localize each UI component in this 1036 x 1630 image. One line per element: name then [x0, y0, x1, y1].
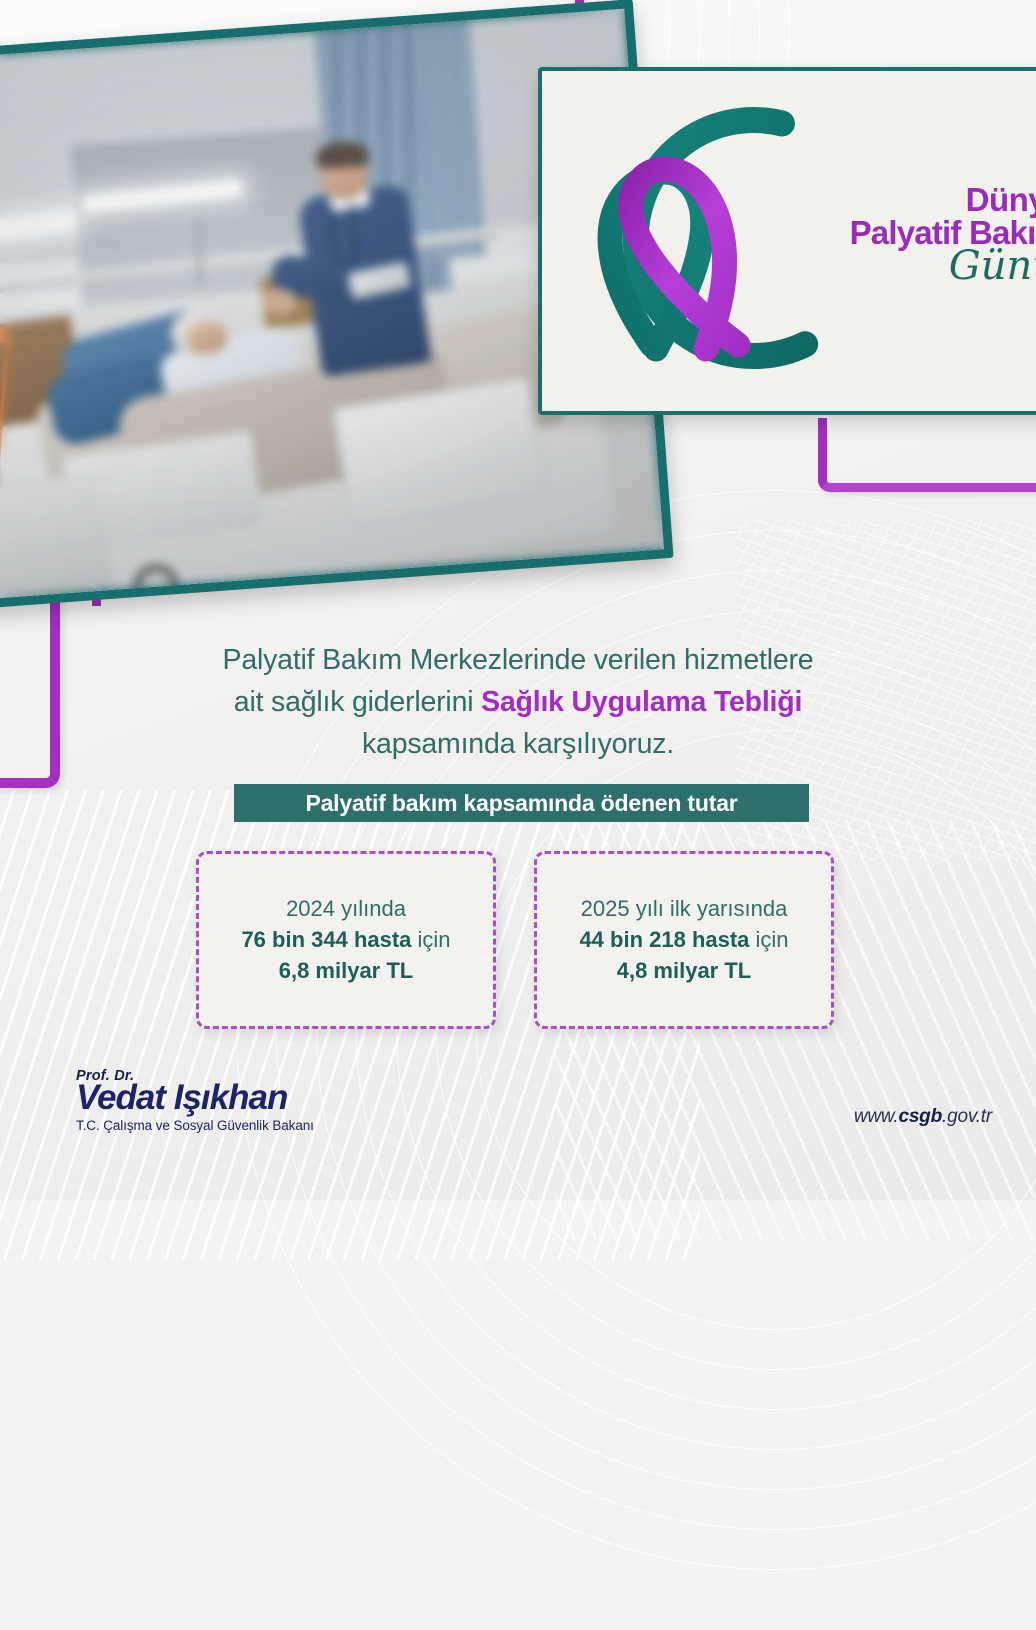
- logo-title-line3: Günü: [834, 247, 1036, 285]
- stat-card-patients-suffix: için: [411, 927, 450, 952]
- minister-signature: Prof. Dr. Vedat Işıkhan T.C. Çalışma ve …: [76, 1068, 314, 1133]
- website-url[interactable]: www.csgb.gov.tr: [854, 1106, 992, 1128]
- website-url-suffix: .gov.tr: [942, 1106, 992, 1127]
- purple-accent-frame-right: [818, 418, 1036, 492]
- stat-card: 2025 yılı ilk yarısında 44 bin 218 hasta…: [534, 851, 834, 1029]
- stat-card-year: 2024 yılında: [286, 896, 406, 922]
- main-description-line3: kapsamında karşılıyoruz.: [0, 724, 1036, 766]
- main-description: Palyatif Bakım Merkezlerinde verilen hiz…: [0, 640, 1036, 766]
- minister-name: Vedat Işıkhan: [76, 1080, 314, 1117]
- website-url-brand: csgb: [898, 1106, 942, 1127]
- stat-card-patients-suffix: için: [749, 927, 788, 952]
- website-url-prefix: www.: [854, 1106, 899, 1127]
- main-description-line2-pre: ait sağlık giderlerini: [234, 686, 481, 718]
- stat-card-patients: 44 bin 218 hasta için: [579, 927, 788, 953]
- main-description-highlight: Sağlık Uygulama Tebliği: [481, 686, 802, 718]
- stat-card-amount: 6,8 milyar TL: [279, 958, 414, 984]
- minister-role: T.C. Çalışma ve Sosyal Güvenlik Bakanı: [76, 1118, 314, 1133]
- stat-card: 2024 yılında 76 bin 344 hasta için 6,8 m…: [196, 851, 496, 1029]
- main-description-line2: ait sağlık giderlerini Sağlık Uygulama T…: [0, 682, 1036, 724]
- stat-card-amount: 4,8 milyar TL: [617, 958, 752, 984]
- world-palliative-care-day-logo-card: Dünya Palyatif Bakım Günü: [538, 67, 1036, 415]
- stat-card-year: 2025 yılı ilk yarısında: [581, 896, 788, 922]
- stat-card-patients: 76 bin 344 hasta için: [241, 927, 450, 953]
- stat-card-patients-value: 44 bin 218 hasta: [579, 927, 749, 952]
- statistics-cards: 2024 yılında 76 bin 344 hasta için 6,8 m…: [196, 851, 836, 1029]
- logo-title-line1: Dünya: [834, 183, 1036, 216]
- stat-card-patients-value: 76 bin 344 hasta: [241, 927, 411, 952]
- payment-banner: Palyatif bakım kapsamında ödenen tutar: [234, 784, 809, 822]
- payment-banner-label: Palyatif bakım kapsamında ödenen tutar: [305, 790, 737, 817]
- main-description-line1: Palyatif Bakım Merkezlerinde verilen hiz…: [0, 640, 1036, 682]
